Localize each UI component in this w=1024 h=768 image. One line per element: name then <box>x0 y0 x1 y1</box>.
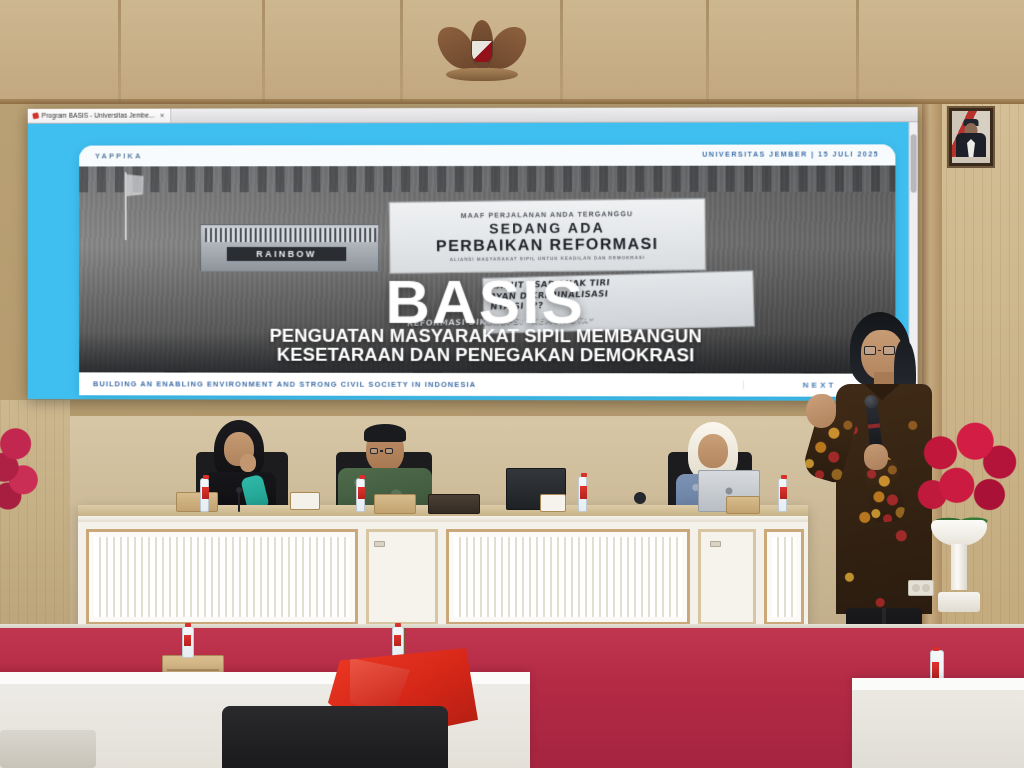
foreground-chair-right <box>0 730 96 768</box>
water-bottle <box>356 478 365 512</box>
desk-panel <box>446 529 690 625</box>
foreground-table-right <box>852 678 1024 768</box>
slide-main-title: BASIS <box>385 274 585 331</box>
urn-stem <box>951 544 967 590</box>
protest-banner: MAAF PERJALANAN ANDA TERGANGGU SEDANG AD… <box>389 198 706 273</box>
organization-brand: YAPPIKA <box>95 151 143 160</box>
browser-viewport: YAPPIKA UNIVERSITAS JEMBER | 15 JULI 202… <box>28 122 918 401</box>
banner-line-4: ALIANSI MASYARAKAT SIPIL UNTUK KEADILAN … <box>450 254 645 261</box>
wall-seam <box>118 0 121 104</box>
browser-tab-title: Program BASIS - Universitas Jembe... <box>42 112 155 119</box>
banner-line-3: PERBAIKAN REFORMASI <box>436 235 659 255</box>
wall-seam <box>560 0 563 104</box>
bottle-cap <box>933 647 939 651</box>
slide-subtitle-line-2: KESETARAAN DAN PENEGAKAN DEMOKRASI <box>277 346 694 365</box>
desk-item-dark <box>428 494 480 514</box>
desk-knob <box>374 541 385 547</box>
desk-fluted-inset <box>94 537 350 617</box>
browser-window: Program BASIS - Universitas Jembe... ✕ Y… <box>28 107 918 401</box>
paper-stack <box>290 492 320 510</box>
official-portrait <box>947 106 995 168</box>
desk-fluted-inset <box>454 537 682 617</box>
photo-flagpole <box>125 172 127 240</box>
speaker-mic-hand <box>864 444 888 470</box>
hand <box>240 454 256 472</box>
portrait-caption-plate <box>952 157 990 163</box>
water-bottle <box>392 626 404 658</box>
banner-line-2: SEDANG ADA <box>489 219 605 236</box>
laptop-logo-icon <box>726 488 733 495</box>
event-meta: UNIVERSITAS JEMBER | 15 JULI 2025 <box>702 151 879 158</box>
truck-sign: RAINBOW <box>227 247 346 261</box>
tissue-box <box>540 494 566 512</box>
slide-header: YAPPIKA UNIVERSITAS JEMBER | 15 JULI 202… <box>79 144 895 166</box>
wall-seam <box>400 0 403 104</box>
socket-hole <box>922 584 930 592</box>
snack-box <box>374 494 416 514</box>
slide-title-block: BASIS PENGUATAN MASYARAKAT SIPIL MEMBANG… <box>79 274 895 366</box>
eyeglasses-icon <box>370 448 393 454</box>
photo-truck: RAINBOW <box>200 224 379 272</box>
water-bottle <box>182 626 194 658</box>
urn-bowl <box>931 520 987 546</box>
hair <box>364 424 406 442</box>
slide-tagline: BUILDING AN ENABLING ENVIRONMENT AND STR… <box>79 379 744 389</box>
desk-knob <box>710 541 721 547</box>
bottle-cap <box>581 473 587 477</box>
desk-panel <box>764 529 804 625</box>
urn-base <box>938 592 980 612</box>
foreground-chair-back <box>222 706 448 768</box>
emblem-shield <box>471 40 493 64</box>
desk-rail <box>78 516 808 522</box>
slide-hero-image: RAINBOW MAAF PERJALANAN ANDA TERGANGGU S… <box>79 165 895 373</box>
seminar-room-scene: Program BASIS - Universitas Jembe... ✕ Y… <box>0 0 1024 768</box>
microphone-head <box>864 394 879 408</box>
presentation-slide: YAPPIKA UNIVERSITAS JEMBER | 15 JULI 202… <box>79 144 895 396</box>
site-favicon-icon <box>32 112 39 119</box>
desk-microphone <box>238 492 240 512</box>
wall-seam <box>706 0 709 104</box>
browser-tab[interactable]: Program BASIS - Universitas Jembe... ✕ <box>28 109 172 123</box>
bottle-cap <box>781 475 787 479</box>
flower-urn-pedestal <box>928 520 990 612</box>
desk-item-round <box>634 492 646 504</box>
slide-footer: BUILDING AN ENABLING ENVIRONMENT AND STR… <box>79 372 895 396</box>
browser-tabstrip: Program BASIS - Universitas Jembe... ✕ <box>28 107 918 124</box>
desk-panel <box>86 529 358 625</box>
desk-fluted-inset <box>772 537 796 617</box>
snack-box <box>726 496 760 514</box>
water-bottle <box>200 478 209 512</box>
wall-seam <box>856 0 859 104</box>
water-bottle <box>778 478 787 512</box>
speaker-gesturing-hand <box>806 394 836 428</box>
banner-line-1: MAAF PERJALANAN ANDA TERGANGGU <box>461 211 633 220</box>
wall-power-socket[interactable] <box>908 580 934 596</box>
truck-grille <box>205 228 376 242</box>
bag-handle <box>404 628 406 654</box>
photo-flag <box>127 174 144 196</box>
tabstrip-empty-area[interactable] <box>171 107 917 122</box>
projection-screen: Program BASIS - Universitas Jembe... ✕ Y… <box>28 107 918 401</box>
snack-box <box>176 492 218 512</box>
emblem-motto-scroll <box>446 68 518 81</box>
face <box>698 434 728 468</box>
bottle-cap <box>359 475 365 479</box>
flower-arrangement-left <box>0 424 54 514</box>
truck-sign-text: RAINBOW <box>256 249 316 259</box>
eyeglasses-icon <box>864 346 895 355</box>
bottle-cap <box>395 623 401 627</box>
desk-panel <box>698 529 756 625</box>
wall-seam <box>262 0 265 104</box>
bottle-cap <box>203 475 209 479</box>
photo-skyline <box>79 165 895 192</box>
bottle-cap <box>185 623 191 627</box>
garuda-pancasila-emblem <box>440 16 524 88</box>
close-icon[interactable]: ✕ <box>160 112 165 119</box>
socket-hole <box>912 584 920 592</box>
portrait-photo <box>952 111 990 163</box>
scrollbar-thumb[interactable] <box>911 134 917 192</box>
panel-desk <box>78 505 808 633</box>
water-bottle <box>578 476 587 512</box>
microphone-band <box>868 423 880 428</box>
